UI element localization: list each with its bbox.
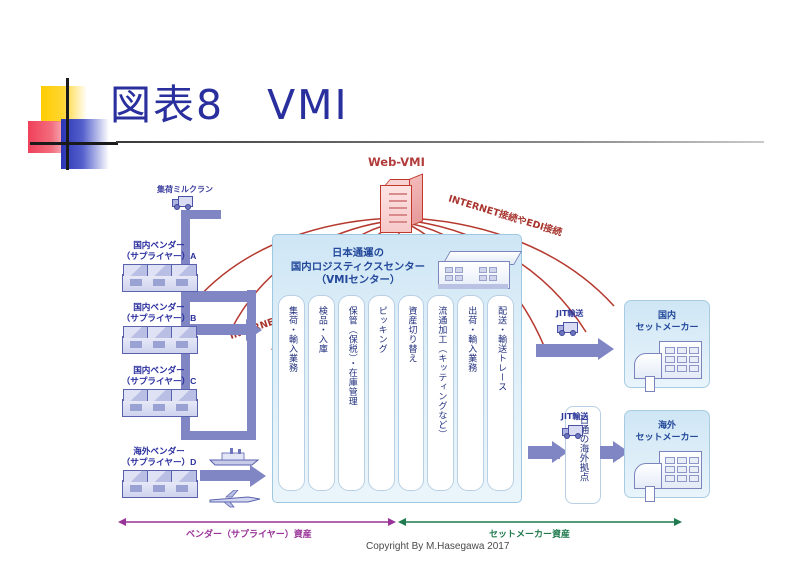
factory-icon-a [122, 264, 196, 290]
vmi-function-columns: 集荷・輸入業務 検品・入庫 保管（保税）・在庫管理 ピッキング 資産切り替え 流… [278, 295, 514, 491]
jit-label-top: JIT輸送 [556, 308, 583, 319]
jit-top-arrow-bar [536, 344, 600, 357]
copyright-notice: Copyright By M.Hasegawa 2017 [366, 541, 509, 552]
domestic-setmaker-label: 国内 セットメーカー [625, 310, 709, 334]
web-vmi-server-icon [378, 177, 424, 233]
function-label-6: 流通加工（キッティングなど） [434, 306, 447, 439]
function-label-7: 出荷・輸入業務 [464, 306, 477, 373]
vmi-title-line3: （VMIセンター） [283, 274, 433, 288]
building-icon-overseas [634, 451, 700, 487]
function-label-1: 集荷・輸入業務 [285, 306, 298, 373]
page-title: 図表8 VMI [110, 79, 349, 131]
overseas-setmaker-label: 海外 セットメーカー [625, 420, 709, 444]
domestic-setmaker-line2: セットメーカー [625, 322, 709, 334]
vmi-title-line1: 日本通運の [283, 247, 433, 261]
vmi-diagram: Web-VMI INTERNET接続やEDI接続 INTERNET接続やEDI接… [0, 150, 786, 560]
decoration-yellow-square [41, 86, 87, 122]
function-column-4: ピッキング [368, 295, 395, 491]
ship-icon [206, 448, 262, 466]
factory-icon-c [122, 389, 196, 415]
vendor-manifold-bottom [181, 431, 256, 440]
function-label-4: ピッキング [375, 306, 388, 354]
vendor-a-label-line2: （サプライヤー）A [112, 251, 206, 262]
warehouse-icon [438, 251, 512, 291]
vendor-d-label-line2: （サプライヤー）D [112, 457, 206, 468]
legend-label-vendor: ベンダー（サプライヤー）資産 [186, 527, 312, 540]
vendor-a-label-line1: 国内ベンダー [112, 240, 206, 251]
vendor-b-label-line2: （サプライヤー）B [112, 313, 206, 324]
factory-icon-d [122, 470, 196, 496]
domestic-setmaker-line1: 国内 [625, 310, 709, 322]
vendor-manifold-riser [247, 290, 256, 440]
vendor-c-label-line1: 国内ベンダー [112, 365, 206, 376]
vendor-b-label-line1: 国内ベンダー [112, 302, 206, 313]
function-column-7: 出荷・輸入業務 [457, 295, 484, 491]
building-icon-domestic [634, 341, 700, 377]
vmi-title-line2: 国内ロジスティクスセンター [283, 261, 433, 275]
vmi-center-title: 日本通運の 国内ロジスティクスセンター （VMIセンター） [283, 247, 433, 288]
vendor-d: 海外ベンダー （サプライヤー）D [112, 446, 206, 496]
overseas-setmaker-line1: 海外 [625, 420, 709, 432]
function-column-2: 検品・入庫 [308, 295, 335, 491]
function-label-3: 保管（保税）・在庫管理 [345, 306, 358, 406]
slide-canvas: 図表8 VMI Web-VMI [0, 0, 786, 577]
vendor-c: 国内ベンダー （サプライヤー）C [112, 365, 206, 415]
jit-label-bottom: JIT輸送 [561, 411, 588, 422]
vendor-b: 国内ベンダー （サプライヤー）B [112, 302, 206, 352]
overseas-setmaker-box: 海外 セットメーカー [624, 410, 710, 498]
overseas-setmaker-line2: セットメーカー [625, 432, 709, 444]
function-label-2: 検品・入庫 [315, 306, 328, 354]
jit-top-arrow-head [598, 338, 614, 360]
function-label-8: 配送・輸送トレース [494, 306, 507, 392]
plane-icon [208, 490, 262, 508]
function-column-3: 保管（保税）・在庫管理 [338, 295, 365, 491]
vendor-d-label-line1: 海外ベンダー [112, 446, 206, 457]
domestic-setmaker-box: 国内 セットメーカー [624, 300, 710, 388]
vendor-manifold-top [181, 210, 221, 219]
function-column-5: 資産切り替え [398, 295, 425, 491]
function-label-5: 資産切り替え [404, 306, 417, 363]
vendor-c-label-line2: （サプライヤー）C [112, 376, 206, 387]
function-column-1: 集荷・輸入業務 [278, 295, 305, 491]
vendor-feed-bar-upper [190, 291, 256, 302]
vendor-a: 国内ベンダー （サプライヤー）A [112, 240, 206, 290]
overseas-vendor-feed-bar [200, 470, 252, 481]
legend-label-setmaker: セットメーカー資産 [489, 527, 570, 540]
vendor-feed-arrow [246, 319, 262, 341]
factory-icon-b [122, 326, 196, 352]
title-underline [116, 141, 764, 143]
decoration-horizontal-line [30, 142, 118, 145]
web-vmi-label: Web-VMI [368, 155, 425, 169]
milkrun-label: 集荷ミルクラン [157, 184, 213, 195]
function-column-8: 配送・輸送トレース [487, 295, 514, 491]
function-column-6: 流通加工（キッティングなど） [427, 295, 454, 491]
overseas-vendor-feed-arrow [250, 465, 266, 487]
